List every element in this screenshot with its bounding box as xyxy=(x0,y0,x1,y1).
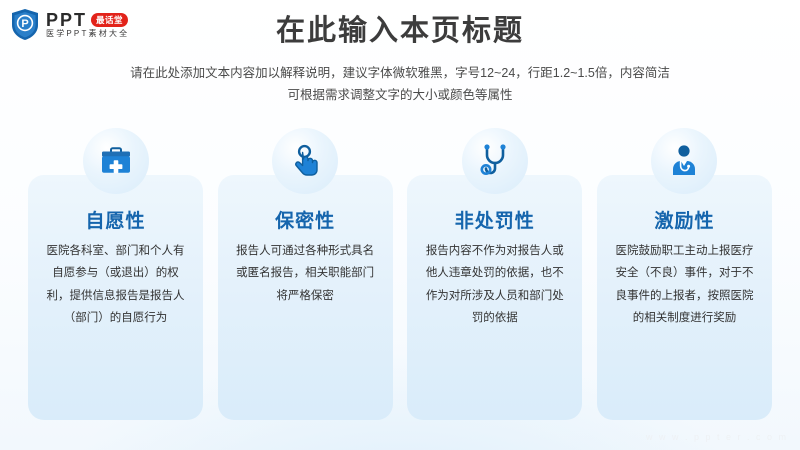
card-row: 自愿性 医院各科室、部门和个人有自愿参与（或退出）的权利，提供信息报告是报告人（… xyxy=(28,128,772,420)
subtitle-line-1: 请在此处添加文本内容加以解释说明，建议字体微软雅黑，字号12~24，行距1.2~… xyxy=(0,63,800,85)
card-item[interactable]: 保密性 报告人可通过各种形式具名或匿名报告，相关职能部门将严格保密 xyxy=(218,128,393,420)
card-heading: 保密性 xyxy=(218,206,393,233)
card-heading: 自愿性 xyxy=(28,206,203,233)
site-watermark: w w w . p p t e r . c o m xyxy=(646,432,788,442)
doctor-icon xyxy=(651,128,717,194)
card-text: 医院各科室、部门和个人有自愿参与（或退出）的权利，提供信息报告是报告人（部门）的… xyxy=(46,240,185,330)
stethoscope-icon xyxy=(462,128,528,194)
page-subtitle: 请在此处添加文本内容加以解释说明，建议字体微软雅黑，字号12~24，行距1.2~… xyxy=(0,63,800,107)
page-title: 在此输入本页标题 xyxy=(0,14,800,49)
slide-canvas: P PPT 最话堂 医学PPT素材大全 在此输入本页标题 请在此处添加文本内容加… xyxy=(0,0,800,450)
card-item[interactable]: 非处罚性 报告内容不作为对报告人或他人违章处罚的依据，也不作为对所涉及人员和部门… xyxy=(407,128,582,420)
card-text: 医院鼓励职工主动上报医疗安全（不良）事件，对于不良事件的上报者，按照医院的相关制… xyxy=(615,240,754,330)
hand-tap-icon xyxy=(272,128,338,194)
card-item[interactable]: 激励性 医院鼓励职工主动上报医疗安全（不良）事件，对于不良事件的上报者，按照医院… xyxy=(597,128,772,420)
card-heading: 非处罚性 xyxy=(407,206,582,233)
card-text: 报告内容不作为对报告人或他人违章处罚的依据，也不作为对所涉及人员和部门处罚的依据 xyxy=(425,240,564,330)
card-text: 报告人可通过各种形式具名或匿名报告，相关职能部门将严格保密 xyxy=(236,240,375,307)
card-heading: 激励性 xyxy=(597,206,772,233)
subtitle-line-2: 可根据需求调整文字的大小或颜色等属性 xyxy=(0,85,800,107)
card-item[interactable]: 自愿性 医院各科室、部门和个人有自愿参与（或退出）的权利，提供信息报告是报告人（… xyxy=(28,128,203,420)
medical-kit-icon xyxy=(83,128,149,194)
